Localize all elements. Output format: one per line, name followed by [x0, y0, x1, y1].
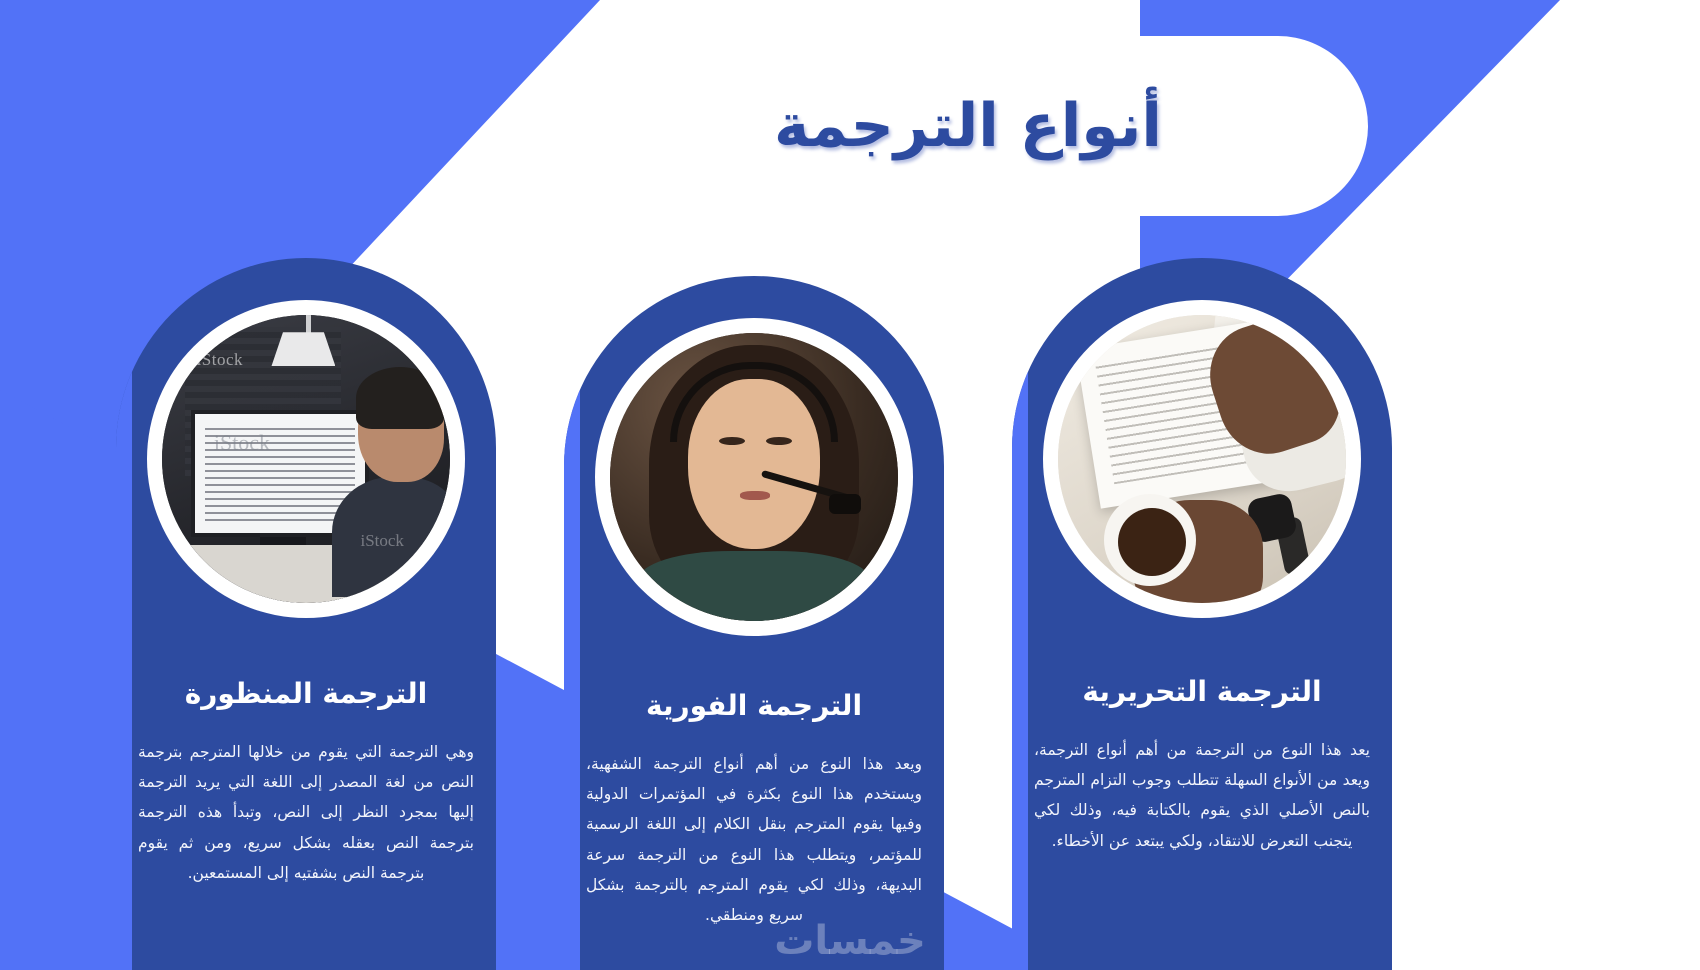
translator-at-desk-photo: iStock iStock iStock	[162, 315, 450, 603]
card-body-text: ويعد هذا النوع من أهم أنواع الترجمة الشف…	[578, 749, 930, 930]
photo-ring: iStock iStock iStock	[147, 300, 465, 618]
card-written-translation[interactable]: الترجمة التحريرية يعد هذا النوع من الترج…	[1012, 258, 1392, 970]
page-title: أنواع الترجمة	[774, 91, 1162, 161]
card-sight-translation[interactable]: iStock iStock iStock الترجمة المنظورة وه…	[116, 258, 496, 970]
card-title: الترجمة المنظورة	[185, 676, 427, 711]
card-simultaneous-interpretation[interactable]: الترجمة الفورية ويعد هذا النوع من أهم أن…	[564, 276, 944, 970]
card-title: الترجمة التحريرية	[1082, 674, 1321, 709]
card-title: الترجمة الفورية	[646, 688, 862, 723]
photo-ring	[595, 318, 913, 636]
title-pill: أنواع الترجمة	[568, 36, 1368, 216]
photo-ring	[1043, 300, 1361, 618]
handwriting-notebook-photo	[1058, 315, 1346, 603]
interpreter-with-headset-photo	[610, 333, 898, 621]
card-body-text: يعد هذا النوع من الترجمة من أهم أنواع ال…	[1026, 735, 1378, 856]
card-body-text: وهي الترجمة التي يقوم من خلالها المترجم …	[130, 737, 482, 888]
